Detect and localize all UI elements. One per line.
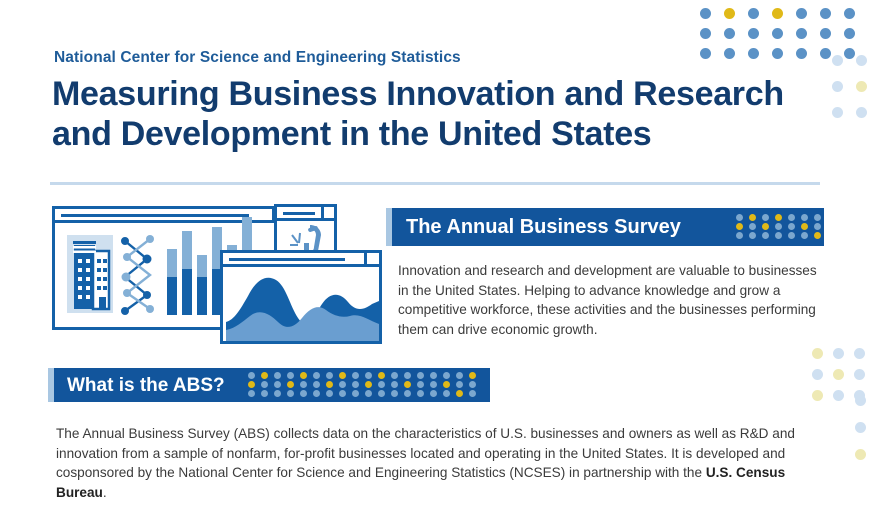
decorative-dot (832, 81, 843, 92)
banner-accent-bar (386, 208, 392, 246)
decorative-dot (801, 232, 808, 239)
decorative-dot (724, 8, 735, 19)
decorative-dot (248, 381, 255, 388)
banner-label-what-is-the-abs: What is the ABS? (67, 375, 225, 397)
decorative-dot (833, 369, 844, 380)
decorative-dot (788, 214, 795, 221)
area-chart-icon (226, 270, 379, 341)
decorative-dot (378, 390, 385, 397)
decorative-dot (352, 381, 359, 388)
decorative-dot (814, 223, 821, 230)
decorative-dot (856, 55, 867, 66)
decorative-dot (365, 372, 372, 379)
decorative-dot (404, 390, 411, 397)
decorative-dot (443, 372, 450, 379)
decorative-dot (854, 348, 865, 359)
area-chart-window-icon (220, 250, 382, 344)
decorative-dot (700, 28, 711, 39)
decorative-dot (469, 390, 476, 397)
decorative-dot (378, 381, 385, 388)
decorative-dot (796, 48, 807, 59)
decorative-dot (775, 223, 782, 230)
decorative-dot (430, 381, 437, 388)
decorative-dot (300, 372, 307, 379)
decorative-dot (287, 372, 294, 379)
page-title: Measuring Business Innovation and Resear… (52, 74, 812, 154)
decorative-dot (762, 223, 769, 230)
decorative-dot (724, 28, 735, 39)
decorative-dot (832, 107, 843, 118)
decorative-dot (274, 381, 281, 388)
decorative-dot (326, 381, 333, 388)
decorative-dot (736, 223, 743, 230)
decorative-dot (365, 390, 372, 397)
decorative-dot (378, 372, 385, 379)
decorative-dot (812, 390, 823, 401)
decorative-dot (700, 48, 711, 59)
header-divider (50, 182, 820, 185)
abs-banner-dot-grid (248, 372, 482, 399)
decorative-dot (443, 390, 450, 397)
decorative-dot (856, 81, 867, 92)
decorative-dot (820, 48, 831, 59)
window-titlebar-icon (223, 253, 379, 267)
decorative-dot (430, 390, 437, 397)
decorative-dot (820, 8, 831, 19)
decorative-dot (469, 381, 476, 388)
page-title-line-2: and Development in the United States (52, 114, 812, 154)
office-building-icon (71, 239, 111, 311)
decorative-dot (856, 107, 867, 118)
decorative-dot (772, 48, 783, 59)
decorative-dot (313, 381, 320, 388)
data-dashboard-illustration (52, 204, 382, 344)
decorative-dot (352, 390, 359, 397)
decorative-dot (456, 372, 463, 379)
decorative-dot (339, 381, 346, 388)
banner-accent-bar (48, 368, 54, 402)
decorative-dot (456, 381, 463, 388)
decorative-dot (417, 372, 424, 379)
decorative-dot (788, 232, 795, 239)
window-titlebar-icon (55, 209, 289, 223)
decorative-dot (855, 422, 866, 433)
decorative-dot (820, 28, 831, 39)
decorative-dot (796, 8, 807, 19)
survey-banner-dot-grid (736, 214, 827, 241)
decorative-dot (772, 8, 783, 19)
decorative-dot (391, 390, 398, 397)
decorative-dot (430, 372, 437, 379)
infographic-page: National Center for Science and Engineer… (0, 0, 872, 510)
decorative-dot (287, 390, 294, 397)
top-right-secondary-dot-grid (832, 55, 872, 133)
decorative-dot (365, 381, 372, 388)
decorative-dot (814, 214, 821, 221)
decorative-dot (261, 372, 268, 379)
decorative-dot (417, 381, 424, 388)
decorative-dot (772, 28, 783, 39)
decorative-dot (287, 381, 294, 388)
far-right-dot-column (855, 395, 872, 476)
decorative-dot (326, 390, 333, 397)
banner-label-annual-business-survey: The Annual Business Survey (406, 216, 681, 239)
abs-body-part-1: The Annual Business Survey (ABS) collect… (56, 426, 795, 480)
decorative-dot (855, 449, 866, 460)
decorative-dot (404, 381, 411, 388)
decorative-dot (391, 372, 398, 379)
decorative-dot (762, 232, 769, 239)
decorative-dot (749, 214, 756, 221)
decorative-dot (261, 390, 268, 397)
network-nodes-icon (117, 233, 163, 315)
decorative-dot (274, 390, 281, 397)
window-titlebar-icon (277, 207, 334, 221)
decorative-dot (326, 372, 333, 379)
decorative-dot (391, 381, 398, 388)
decorative-dot (300, 390, 307, 397)
decorative-dot (456, 390, 463, 397)
decorative-dot (812, 348, 823, 359)
what-is-the-abs-body-text: The Annual Business Survey (ABS) collect… (56, 424, 824, 502)
decorative-dot (748, 48, 759, 59)
decorative-dot (748, 28, 759, 39)
decorative-dot (261, 381, 268, 388)
decorative-dot (833, 390, 844, 401)
decorative-dot (801, 223, 808, 230)
decorative-dot (762, 214, 769, 221)
decorative-dot (775, 232, 782, 239)
decorative-dot (352, 372, 359, 379)
decorative-dot (796, 28, 807, 39)
decorative-dot (404, 372, 411, 379)
decorative-dot (300, 381, 307, 388)
decorative-dot (274, 372, 281, 379)
decorative-dot (844, 28, 855, 39)
decorative-dot (788, 223, 795, 230)
abs-body-part-2: . (103, 485, 107, 500)
decorative-dot (855, 395, 866, 406)
decorative-dot (749, 232, 756, 239)
decorative-dot (736, 214, 743, 221)
page-title-line-1: Measuring Business Innovation and Resear… (52, 75, 784, 113)
decorative-dot (469, 372, 476, 379)
decorative-dot (313, 390, 320, 397)
decorative-dot (248, 372, 255, 379)
annual-business-survey-body-text: Innovation and research and development … (398, 261, 818, 339)
decorative-dot (812, 369, 823, 380)
decorative-dot (801, 214, 808, 221)
decorative-dot (814, 232, 821, 239)
decorative-dot (443, 381, 450, 388)
decorative-dot (248, 390, 255, 397)
organization-eyebrow: National Center for Science and Engineer… (54, 49, 461, 67)
decorative-dot (749, 223, 756, 230)
decorative-dot (854, 369, 865, 380)
decorative-dot (832, 55, 843, 66)
decorative-dot (313, 372, 320, 379)
decorative-dot (833, 348, 844, 359)
decorative-dot (724, 48, 735, 59)
decorative-dot (339, 372, 346, 379)
decorative-dot (417, 390, 424, 397)
decorative-dot (339, 390, 346, 397)
decorative-dot (736, 232, 743, 239)
decorative-dot (700, 8, 711, 19)
decorative-dot (748, 8, 759, 19)
decorative-dot (775, 214, 782, 221)
decorative-dot (844, 8, 855, 19)
